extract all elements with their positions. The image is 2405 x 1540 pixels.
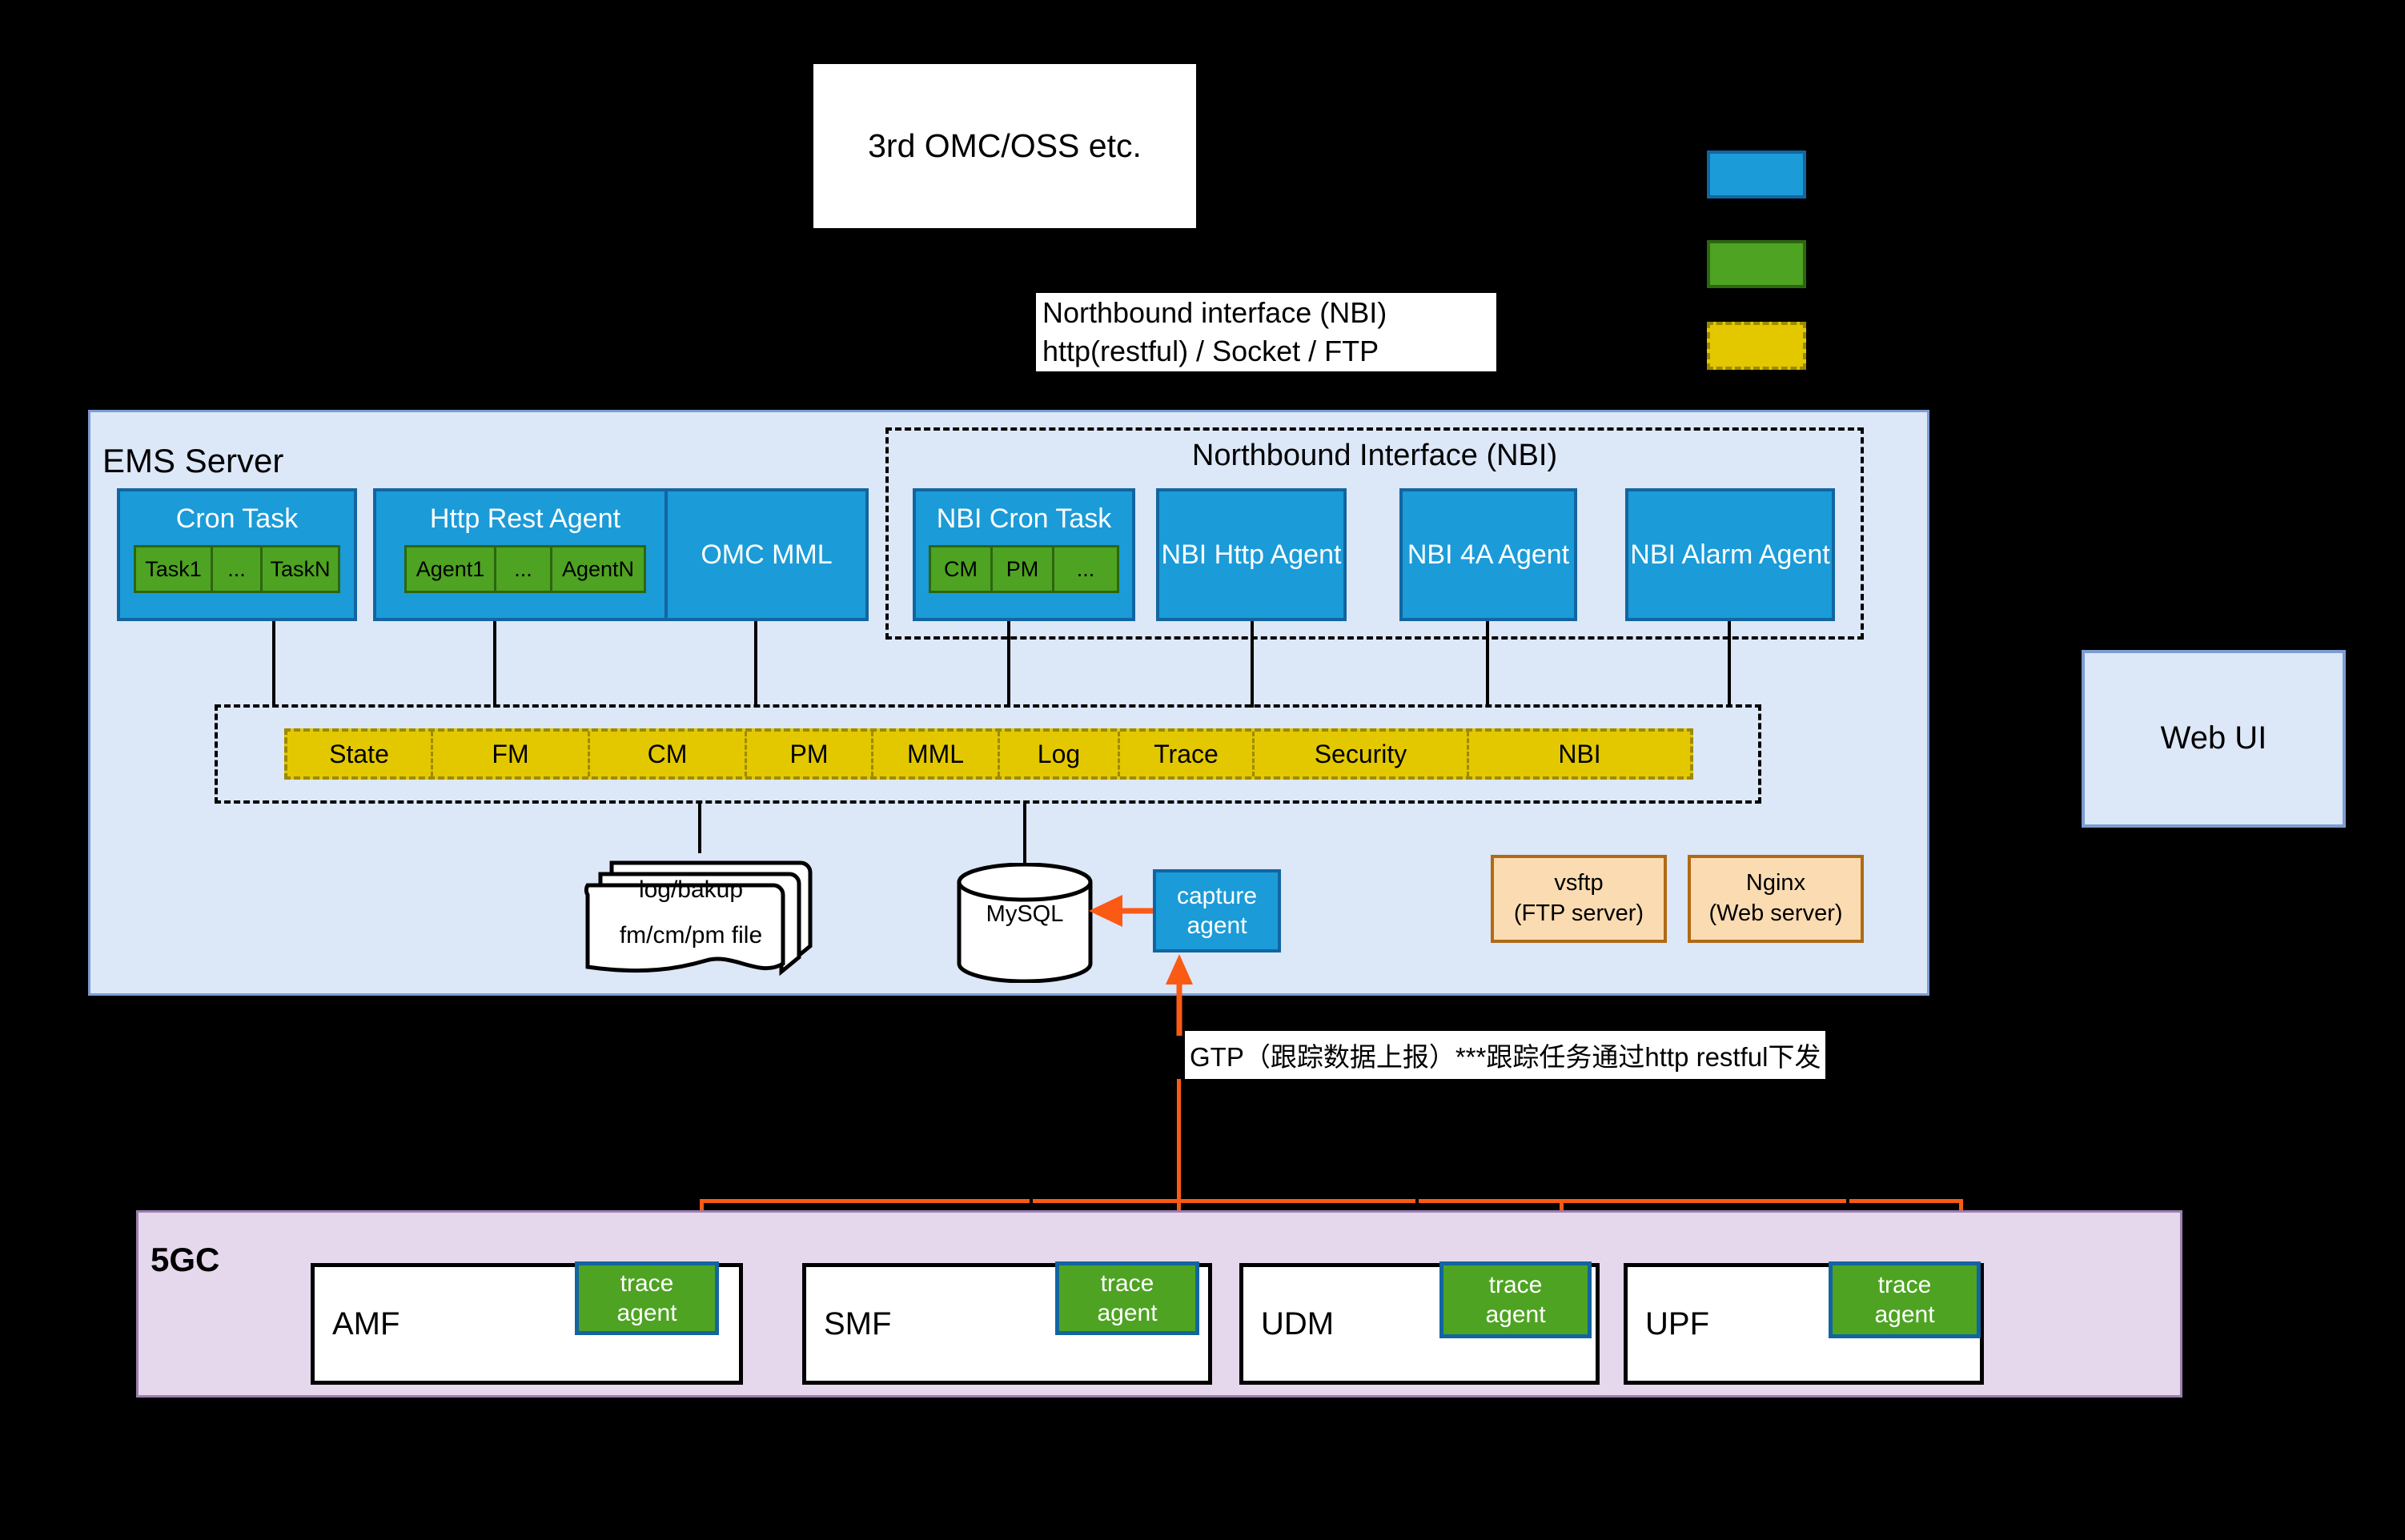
component-nbi-alarm-agent[interactable]: NBI Alarm Agent: [1625, 488, 1835, 621]
mysql-label: MySQL: [954, 901, 1095, 928]
trace-distribution-bus: [700, 1199, 1963, 1203]
nginx-line2: (Web server): [1708, 899, 1842, 929]
trace-agent-udm-line2: agent: [1485, 1300, 1545, 1329]
service-bus-item-fm[interactable]: FM: [433, 732, 590, 776]
external-omc-oss-label: 3rd OMC/OSS etc.: [868, 126, 1142, 165]
trace-agent-upf-line1: trace: [1878, 1270, 1932, 1300]
component-nbi-http-agent-title: NBI Http Agent: [1159, 539, 1343, 571]
nbi-cron-task-sub-0: CM: [931, 547, 993, 591]
nbi-cron-task-subtasks: CM PM ...: [929, 545, 1119, 593]
nbi-protocol-line1: Northbound interface (NBI): [1042, 294, 1387, 332]
trace-agent-smf-line1: trace: [1101, 1269, 1154, 1298]
http-rest-agent-sub-1: ...: [496, 547, 552, 591]
gtp-link-label: GTP（跟踪数据上报）***跟踪任务通过http restful下发: [1185, 1031, 1825, 1079]
http-rest-agent-sub-2: AgentN: [552, 547, 644, 591]
vsftp-line2: (FTP server): [1514, 899, 1644, 929]
component-nbi-http-agent[interactable]: NBI Http Agent: [1156, 488, 1347, 621]
nbi-cron-task-sub-2: ...: [1054, 547, 1117, 591]
component-nbi-4a-agent-title: NBI 4A Agent: [1403, 539, 1574, 571]
web-ui-box[interactable]: Web UI: [2082, 650, 2346, 828]
trace-agent-amf-line1: trace: [620, 1269, 674, 1298]
log-file-line1: log/bakup: [639, 867, 743, 912]
trace-agent-upf[interactable]: trace agent: [1829, 1261, 1981, 1338]
ems-server-title: EMS Server: [102, 442, 283, 480]
cron-task-sub-1: ...: [213, 547, 263, 591]
component-cron-task-title: Cron Task: [120, 503, 354, 535]
trace-trunk-lower: [1177, 1079, 1181, 1201]
trace-agent-amf-line2: agent: [616, 1298, 677, 1328]
trace-agent-smf[interactable]: trace agent: [1055, 1261, 1199, 1335]
component-http-rest-agent[interactable]: Http Rest Agent Agent1 ... AgentN: [373, 488, 677, 621]
trace-agent-upf-line2: agent: [1874, 1300, 1934, 1329]
connector-http-rest-agent-bus: [493, 621, 496, 708]
trace-agent-amf[interactable]: trace agent: [575, 1261, 719, 1335]
legend-swatch-yellow: [1707, 322, 1806, 370]
http-rest-agent-subagents: Agent1 ... AgentN: [404, 545, 646, 593]
component-nbi-cron-task[interactable]: NBI Cron Task CM PM ...: [913, 488, 1135, 621]
legend-swatch-blue: [1707, 150, 1806, 199]
network-function-smf-label: SMF: [824, 1306, 891, 1342]
log-file-line2: fm/cm/pm file: [620, 912, 762, 958]
service-bus-item-nbi[interactable]: NBI: [1469, 732, 1690, 776]
service-bus-item-security[interactable]: Security: [1255, 732, 1469, 776]
vsftp-line1: vsftp: [1554, 868, 1603, 899]
log-file-labels: log/bakup fm/cm/pm file: [575, 864, 807, 960]
http-rest-agent-sub-0: Agent1: [407, 547, 496, 591]
service-bus-item-trace[interactable]: Trace: [1120, 732, 1255, 776]
nbi-protocol-label: Northbound interface (NBI) http(restful)…: [1036, 293, 1496, 371]
component-omc-mml-title: OMC MML: [668, 539, 865, 571]
trace-agent-smf-line2: agent: [1097, 1298, 1157, 1328]
capture-agent-box[interactable]: capture agent: [1153, 869, 1281, 952]
arrow-trace-trunk-to-capture-agent: [1162, 952, 1196, 1036]
network-function-udm-label: UDM: [1261, 1306, 1334, 1342]
component-nbi-alarm-agent-title: NBI Alarm Agent: [1628, 539, 1832, 571]
nbi-cron-task-sub-1: PM: [993, 547, 1054, 591]
component-omc-mml[interactable]: OMC MML: [664, 488, 869, 621]
service-bus-item-state[interactable]: State: [287, 732, 433, 776]
component-cron-task[interactable]: Cron Task Task1 ... TaskN: [117, 488, 357, 621]
connector-nbi-4a-agent-bus: [1486, 621, 1489, 708]
cron-task-subtasks: Task1 ... TaskN: [134, 545, 340, 593]
connector-cron-task-bus: [272, 621, 275, 708]
legend-swatch-green: [1707, 240, 1806, 288]
trace-agent-udm[interactable]: trace agent: [1439, 1261, 1592, 1338]
component-nbi-cron-task-title: NBI Cron Task: [916, 503, 1132, 535]
cron-task-sub-0: Task1: [136, 547, 213, 591]
connector-nbi-http-agent-bus: [1251, 621, 1254, 708]
component-http-rest-agent-title: Http Rest Agent: [376, 503, 674, 535]
service-bus-item-pm[interactable]: PM: [747, 732, 873, 776]
service-bus-item-cm[interactable]: CM: [590, 732, 747, 776]
connector-omc-mml-bus: [754, 621, 757, 708]
web-ui-label: Web UI: [2161, 720, 2267, 757]
service-bus: State FM CM PM MML Log Trace Security NB…: [284, 728, 1693, 780]
network-function-upf-label: UPF: [1645, 1306, 1709, 1342]
connector-bus-mysql: [1023, 804, 1026, 864]
fivegc-title: 5GC: [151, 1241, 219, 1279]
arrow-capture-agent-to-mysql: [1086, 890, 1162, 932]
connector-omc-to-ems: [1003, 228, 1006, 414]
vsftp-server-box[interactable]: vsftp (FTP server): [1491, 855, 1667, 943]
connector-nbi-cron-task-bus: [1007, 621, 1010, 708]
nbi-group-title: Northbound Interface (NBI): [885, 439, 1864, 473]
network-function-amf-label: AMF: [332, 1306, 399, 1342]
capture-agent-line2: agent: [1186, 911, 1247, 941]
nbi-protocol-line2: http(restful) / Socket / FTP: [1042, 332, 1379, 371]
component-nbi-4a-agent[interactable]: NBI 4A Agent: [1399, 488, 1577, 621]
connector-bus-logfile: [698, 804, 701, 853]
service-bus-item-mml[interactable]: MML: [873, 732, 1000, 776]
trace-agent-udm-line1: trace: [1489, 1270, 1543, 1300]
capture-agent-line1: capture: [1177, 881, 1257, 912]
nginx-server-box[interactable]: Nginx (Web server): [1688, 855, 1864, 943]
external-omc-oss-box: 3rd OMC/OSS etc.: [813, 64, 1196, 228]
connector-nbi-alarm-agent-bus: [1728, 621, 1731, 708]
nginx-line1: Nginx: [1746, 868, 1805, 899]
diagram-canvas: 3rd OMC/OSS etc. Northbound interface (N…: [0, 0, 2405, 1540]
cron-task-sub-2: TaskN: [263, 547, 338, 591]
service-bus-item-log[interactable]: Log: [1000, 732, 1120, 776]
